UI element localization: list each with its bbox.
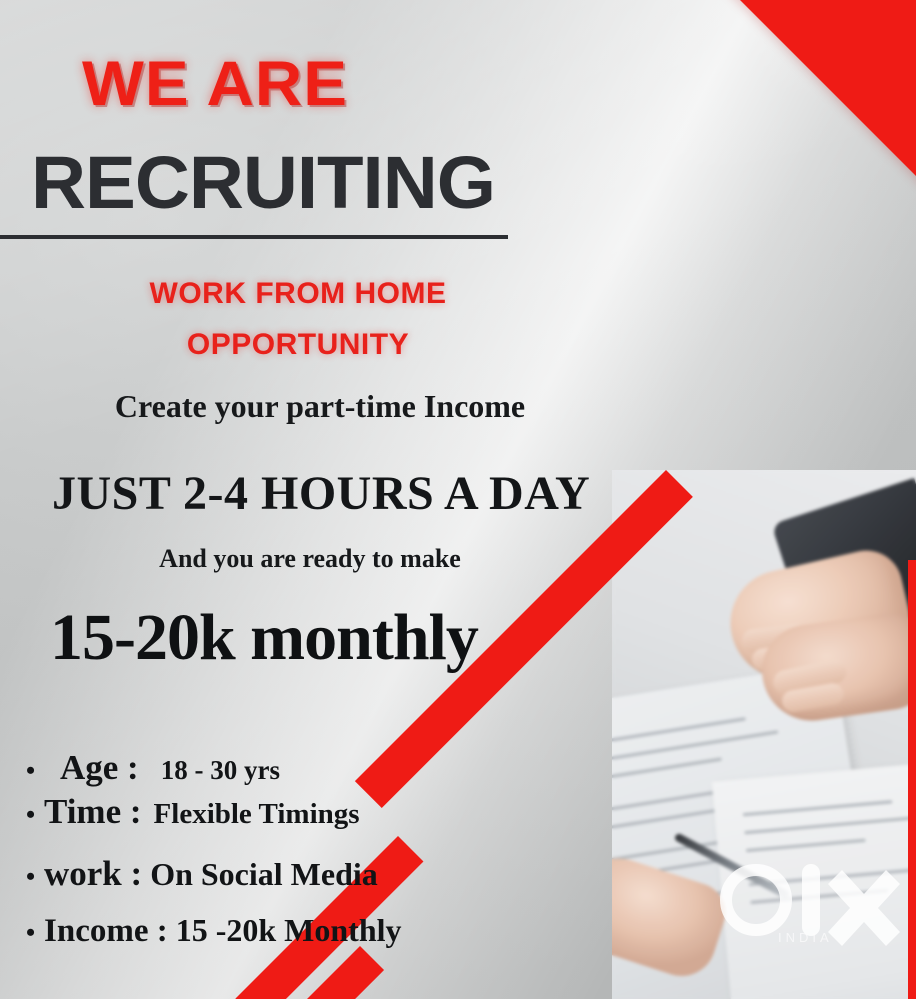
olx-watermark: INDIA — [716, 852, 906, 964]
subheading: WORK FROM HOME OPPORTUNITY — [78, 268, 518, 370]
list-item: • work : On Social Media — [26, 854, 586, 894]
subheading-line-1: WORK FROM HOME — [78, 268, 518, 319]
hours-headline: JUST 2-4 HOURS A DAY — [52, 466, 692, 521]
list-item: • Time : Flexible Timings — [26, 792, 586, 832]
headline-recruiting: RECRUITING — [0, 140, 525, 225]
headline-we-are: WE ARE — [0, 48, 439, 120]
detail-value-work: On Social Media — [142, 856, 378, 893]
detail-value-income: 15 -20k Monthly — [168, 912, 402, 949]
tagline: Create your part-time Income — [60, 388, 580, 425]
detail-label-work: work : — [44, 854, 142, 894]
ready-line: And you are ready to make — [60, 544, 560, 574]
earnings-headline: 15-20k monthly — [50, 600, 690, 676]
bullet-dot-icon: • — [26, 864, 44, 890]
list-item: • Age : 18 - 30 yrs — [26, 748, 586, 788]
detail-label-income: Income : — [44, 913, 168, 950]
recruitment-poster: WE ARE RECRUITING WORK FROM HOME OPPORTU… — [0, 0, 916, 999]
subheading-line-2: OPPORTUNITY — [78, 319, 518, 370]
list-item: • Income : 15 -20k Monthly — [26, 912, 586, 950]
bullet-dot-icon: • — [26, 758, 44, 784]
bullet-dot-icon: • — [26, 802, 44, 828]
detail-label-age: Age : — [44, 748, 139, 788]
detail-value-time: Flexible Timings — [142, 798, 360, 831]
olx-logo-icon — [716, 852, 906, 964]
headline-underline — [0, 235, 508, 239]
detail-value-age: 18 - 30 yrs — [139, 755, 280, 786]
olx-region-label: INDIA — [778, 930, 833, 945]
bullet-dot-icon: • — [26, 920, 44, 946]
detail-label-time: Time : — [44, 792, 142, 832]
red-edge-sliver — [908, 560, 916, 999]
details-list: • Age : 18 - 30 yrs • Time : Flexible Ti… — [26, 748, 586, 950]
